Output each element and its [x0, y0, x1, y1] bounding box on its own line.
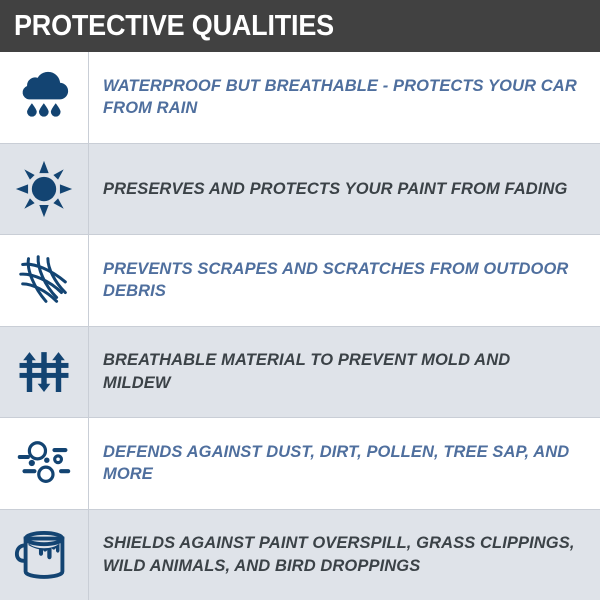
- text-cell: SHIELDS AGAINST PAINT OVERSPILL, GRASS C…: [89, 510, 600, 600]
- page-title: PROTECTIVE QUALITIES: [14, 12, 334, 41]
- text-cell: PREVENTS SCRAPES AND SCRATCHES FROM OUTD…: [89, 235, 600, 326]
- list-item: WATERPROOF BUT BREATHABLE - PROTECTS YOU…: [0, 52, 600, 144]
- text-cell: WATERPROOF BUT BREATHABLE - PROTECTS YOU…: [89, 52, 600, 143]
- list-item: DEFENDS AGAINST DUST, DIRT, POLLEN, TREE…: [0, 418, 600, 510]
- list-item: PRESERVES AND PROTECTS YOUR PAINT FROM F…: [0, 144, 600, 236]
- feature-text: PREVENTS SCRAPES AND SCRATCHES FROM OUTD…: [103, 258, 582, 303]
- text-cell: BREATHABLE MATERIAL TO PREVENT MOLD AND …: [89, 327, 600, 418]
- net-mesh-icon: [13, 249, 75, 311]
- sun-icon: [14, 159, 74, 219]
- list-item: SHIELDS AGAINST PAINT OVERSPILL, GRASS C…: [0, 510, 600, 600]
- dust-particles-icon: [14, 433, 74, 493]
- airflow-arrows-icon: [15, 343, 73, 401]
- feature-list: WATERPROOF BUT BREATHABLE - PROTECTS YOU…: [0, 52, 600, 600]
- panel-header: PROTECTIVE QUALITIES: [0, 0, 600, 52]
- icon-cell: [0, 418, 89, 509]
- icon-cell: [0, 327, 89, 418]
- text-cell: DEFENDS AGAINST DUST, DIRT, POLLEN, TREE…: [89, 418, 600, 509]
- text-cell: PRESERVES AND PROTECTS YOUR PAINT FROM F…: [89, 144, 600, 235]
- feature-text: BREATHABLE MATERIAL TO PREVENT MOLD AND …: [103, 349, 582, 394]
- paint-can-icon: [13, 524, 75, 586]
- feature-text: WATERPROOF BUT BREATHABLE - PROTECTS YOU…: [103, 75, 582, 120]
- icon-cell: [0, 52, 89, 143]
- icon-cell: [0, 235, 89, 326]
- rain-cloud-icon: [13, 66, 75, 128]
- feature-text: PRESERVES AND PROTECTS YOUR PAINT FROM F…: [103, 178, 567, 200]
- list-item: BREATHABLE MATERIAL TO PREVENT MOLD AND …: [0, 327, 600, 419]
- protective-qualities-panel: PROTECTIVE QUALITIES WATERPROOF BUT BREA…: [0, 0, 600, 600]
- icon-cell: [0, 144, 89, 235]
- feature-text: SHIELDS AGAINST PAINT OVERSPILL, GRASS C…: [103, 532, 582, 577]
- feature-text: DEFENDS AGAINST DUST, DIRT, POLLEN, TREE…: [103, 441, 582, 486]
- list-item: PREVENTS SCRAPES AND SCRATCHES FROM OUTD…: [0, 235, 600, 327]
- icon-cell: [0, 510, 89, 600]
